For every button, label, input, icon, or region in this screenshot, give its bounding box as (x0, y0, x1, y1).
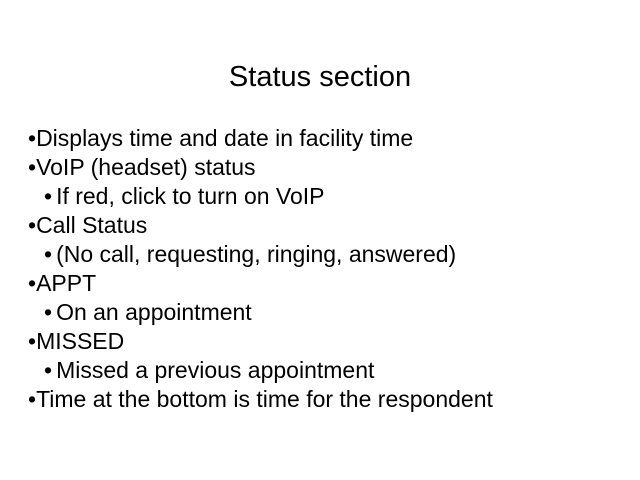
list-item-label: Time at the bottom is time for the respo… (36, 386, 493, 412)
bullet-point-icon: • (28, 386, 36, 412)
list-item: •Missed a previous appointment (0, 356, 640, 385)
bullet-point-icon: • (28, 328, 36, 354)
list-item-label: On an appointment (56, 299, 252, 325)
list-item: •MISSED (0, 327, 640, 356)
list-item: •(No call, requesting, ringing, answered… (0, 240, 640, 269)
list-item: •VoIP (headset) status (0, 153, 640, 182)
list-item-label: Displays time and date in facility time (36, 125, 413, 151)
bullet-point-icon: • (44, 299, 52, 325)
page-title: Status section (0, 59, 640, 95)
presentation-slide: Status section •Displays time and date i… (0, 0, 640, 480)
list-item-label: Missed a previous appointment (56, 357, 374, 383)
list-item-label: Call Status (36, 212, 147, 238)
list-item: •Call Status (0, 211, 640, 240)
list-item: •Displays time and date in facility time (0, 124, 640, 153)
list-item: •If red, click to turn on VoIP (0, 182, 640, 211)
list-item-label: VoIP (headset) status (36, 154, 256, 180)
list-item: •On an appointment (0, 298, 640, 327)
bullet-point-icon: • (28, 125, 36, 151)
list-item-label: APPT (36, 270, 96, 296)
list-item-label: MISSED (36, 328, 124, 354)
list-item: •Time at the bottom is time for the resp… (0, 385, 640, 414)
list-item-label: (No call, requesting, ringing, answered) (56, 241, 456, 267)
bullet-point-icon: • (44, 241, 52, 267)
bullet-point-icon: • (44, 183, 52, 209)
bullet-point-icon: • (44, 357, 52, 383)
list-item: •APPT (0, 269, 640, 298)
list-item-label: If red, click to turn on VoIP (56, 183, 324, 209)
bullet-point-icon: • (28, 154, 36, 180)
bullet-list: •Displays time and date in facility time… (0, 124, 640, 414)
bullet-point-icon: • (28, 270, 36, 296)
bullet-point-icon: • (28, 212, 36, 238)
